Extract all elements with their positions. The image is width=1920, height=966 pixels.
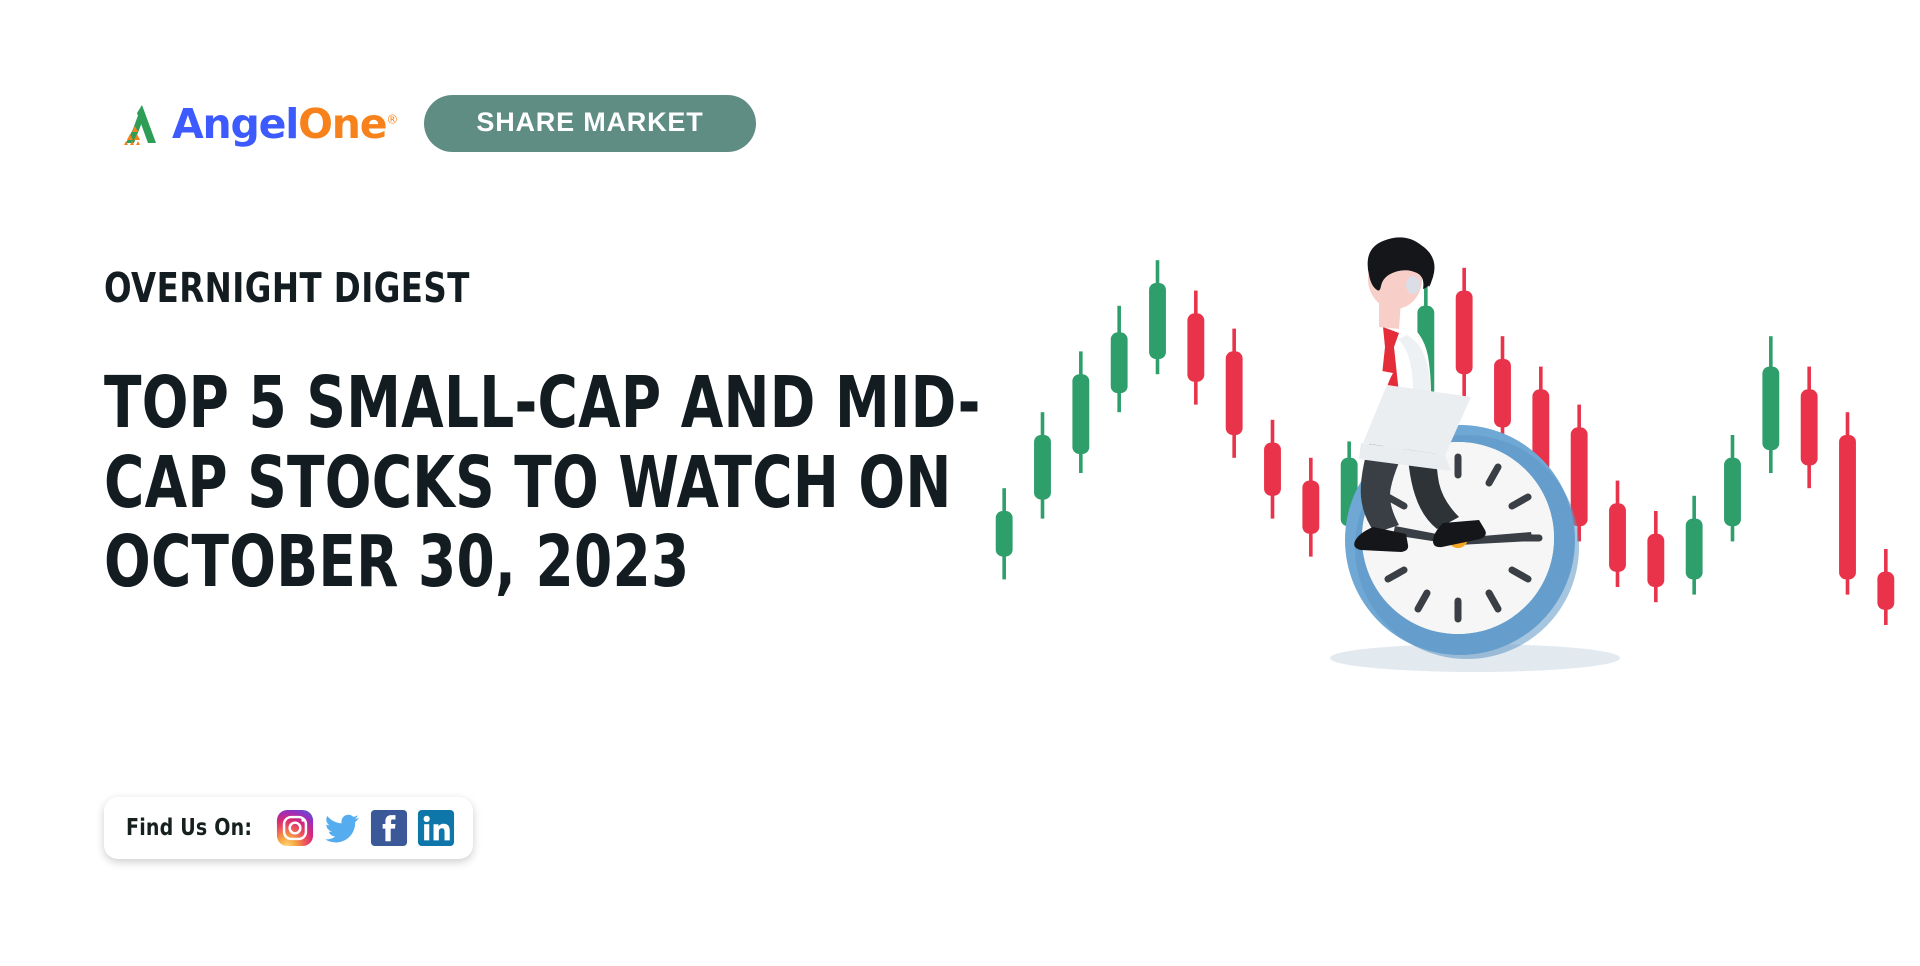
candlestick-chart-with-clock-and-trader-illustration xyxy=(975,235,1915,735)
candle-body xyxy=(1072,374,1089,454)
page-title: TOP 5 SMALL-CAP AND MID-CAP STOCKS TO WA… xyxy=(104,363,981,602)
social-links xyxy=(276,809,455,847)
logo-text-angel: Angel xyxy=(172,100,298,148)
candle-body xyxy=(1149,283,1166,359)
registered-trademark-icon: ® xyxy=(386,112,398,126)
candle-body xyxy=(1571,427,1588,526)
candle-body xyxy=(1034,435,1051,500)
candle-body xyxy=(996,511,1013,557)
candle-body xyxy=(1494,359,1511,427)
candle-body xyxy=(1647,534,1664,587)
instagram-icon[interactable] xyxy=(276,809,314,847)
headline-block: OVERNIGHT DIGEST TOP 5 SMALL-CAP AND MID… xyxy=(104,268,984,602)
candle-body xyxy=(1839,435,1856,579)
candle-body xyxy=(1877,572,1894,610)
twitter-icon[interactable] xyxy=(323,809,361,847)
candle-body xyxy=(1456,291,1473,375)
candle-body xyxy=(1762,367,1779,451)
candle-body xyxy=(1187,313,1204,381)
candle-body xyxy=(1111,332,1128,393)
brand-header: AngelOne® SHARE MARKET xyxy=(118,95,756,152)
candle-body xyxy=(1264,443,1281,496)
find-us-on-label: Find Us On: xyxy=(126,815,252,841)
linkedin-icon[interactable] xyxy=(417,809,455,847)
facebook-icon[interactable] xyxy=(370,809,408,847)
logo-text-one: One xyxy=(298,100,386,148)
candle-body xyxy=(1302,481,1319,534)
candle-body xyxy=(1724,458,1741,526)
angelone-logo[interactable]: AngelOne® xyxy=(118,101,398,147)
candle-body xyxy=(1609,503,1626,571)
candle-body xyxy=(1801,389,1818,465)
angelone-wordmark: AngelOne® xyxy=(172,104,398,145)
angelone-triangle-logo-icon xyxy=(118,101,164,147)
candle-body xyxy=(1226,351,1243,435)
find-us-on-card: Find Us On: xyxy=(104,797,473,859)
share-market-badge[interactable]: SHARE MARKET xyxy=(424,95,755,152)
eyebrow-label: OVERNIGHT DIGEST xyxy=(104,268,878,309)
candle-body xyxy=(1686,519,1703,580)
